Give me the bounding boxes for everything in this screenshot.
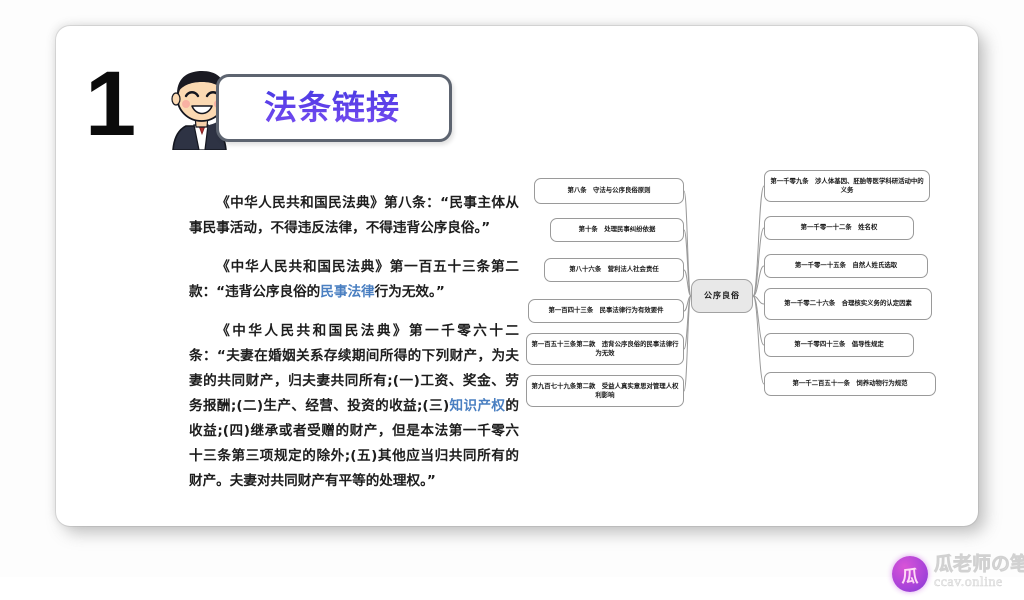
watermark-title: 瓜老师の笔记	[934, 554, 1024, 575]
mindmap-node-right-5[interactable]: 第一千零四十三条 倡导性规定	[764, 333, 914, 357]
legal-text-body: 《中华人民共和国民法典》第八条：“民事主体从事民事活动，不得违反法律，不得违背公…	[189, 191, 519, 508]
watermark-text: 瓜老师の笔记 ccav.online	[934, 554, 1024, 591]
mindmap-node-right-6[interactable]: 第一千二百五十一条 饲养动物行为规范	[764, 372, 936, 396]
paragraph-3: 《中华人民共和国民法典》第一千零六十二条：“夫妻在婚姻关系存续期间所得的下列财产…	[189, 319, 519, 494]
slide-background: 1	[0, 0, 1024, 577]
inline-link[interactable]: 知识产权	[449, 398, 505, 414]
watermark: 瓜 瓜老师の笔记 ccav.online	[892, 550, 1024, 600]
watermark-logo-icon: 瓜	[892, 556, 928, 592]
watermark-url: ccav.online	[934, 575, 1024, 591]
paragraph-2: 《中华人民共和国民法典》第一百五十三条第二款：“违背公序良俗的民事法律行为无效。…	[189, 255, 519, 305]
mindmap-node-left-4[interactable]: 第一百四十三条 民事法律行为有效要件	[528, 299, 684, 323]
mindmap-node-right-3[interactable]: 第一千零一十五条 自然人姓氏选取	[764, 254, 928, 278]
mindmap: 公序良俗 第八条 守法与公序良俗原则第十条 处理民事纠纷依据第八十六条 营利法人…	[526, 166, 956, 426]
mindmap-node-left-1[interactable]: 第八条 守法与公序良俗原则	[534, 178, 684, 204]
section-number: 1	[85, 58, 134, 150]
watermark-logo-glyph: 瓜	[902, 562, 919, 587]
mindmap-node-right-1[interactable]: 第一千零九条 涉人体基因、胚胎等医学科研活动中的义务	[764, 170, 930, 202]
mindmap-center-node[interactable]: 公序良俗	[691, 279, 753, 313]
paragraph-1: 《中华人民共和国民法典》第八条：“民事主体从事民事活动，不得违反法律，不得违背公…	[189, 191, 519, 241]
mindmap-node-left-6[interactable]: 第九百七十九条第二款 受益人真实意思对管理人权利影响	[526, 375, 684, 407]
mindmap-node-right-4[interactable]: 第一千零二十六条 合理核实义务的认定因素	[764, 288, 932, 320]
mindmap-node-right-2[interactable]: 第一千零一十二条 姓名权	[764, 216, 914, 240]
inline-link[interactable]: 民事法律	[320, 284, 374, 300]
mindmap-node-left-5[interactable]: 第一百五十三条第二款 违背公序良俗的民事法律行为无效	[526, 333, 684, 365]
mindmap-node-left-3[interactable]: 第八十六条 营利法人社会责任	[544, 258, 684, 282]
mindmap-node-left-2[interactable]: 第十条 处理民事纠纷依据	[550, 218, 684, 242]
header-banner: 法条链接	[164, 68, 454, 150]
text-run: 行为无效。”	[375, 284, 445, 300]
text-run: 《中华人民共和国民法典》第八条：“民事主体从事民事活动，不得违反法律，不得违背公…	[189, 195, 519, 236]
banner-title: 法条链接	[226, 78, 438, 132]
slide-card: 1	[56, 26, 978, 526]
